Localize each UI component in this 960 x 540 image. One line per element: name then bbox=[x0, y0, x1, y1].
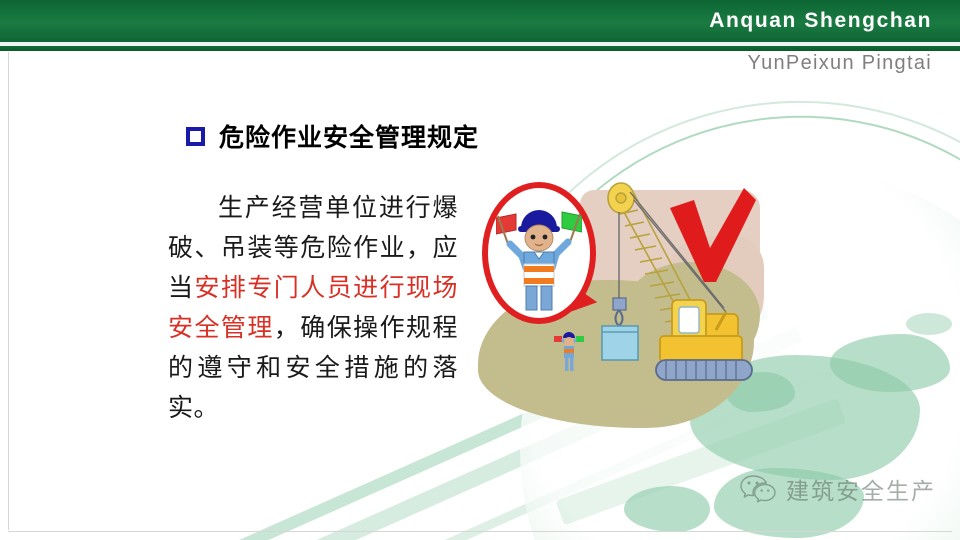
signalman-callout-bubble bbox=[482, 182, 596, 324]
bottom-border-rule bbox=[8, 531, 952, 532]
header-title: Anquan Shengchan bbox=[709, 9, 932, 33]
wechat-logo-icon bbox=[740, 474, 776, 504]
header-divider-dark bbox=[0, 46, 960, 51]
signalman-figure-large bbox=[496, 196, 582, 312]
crawler-crane-illustration bbox=[594, 180, 762, 390]
wechat-account-name: 建筑安全生产 bbox=[786, 472, 936, 506]
slide-canvas: Anquan Shengchan YunPeixun Pingtai 危险作业安… bbox=[0, 0, 960, 540]
hollow-square-bullet-icon bbox=[186, 127, 205, 146]
wechat-watermark: 建筑安全生产 bbox=[740, 472, 936, 506]
slide-heading: 危险作业安全管理规定 bbox=[186, 118, 479, 154]
illustration-crane-signalman bbox=[470, 176, 770, 444]
globe-landmass bbox=[906, 313, 952, 335]
globe-landmass bbox=[830, 334, 950, 392]
globe-landmass bbox=[624, 486, 710, 532]
left-border-rule bbox=[8, 52, 9, 530]
signalman-figure-small bbox=[552, 326, 586, 374]
body-paragraph: 生产经营单位进行爆破、吊装等危险作业，应当安排专门人员进行现场安全管理，确保操作… bbox=[168, 188, 458, 428]
page-title: 危险作业安全管理规定 bbox=[219, 118, 479, 154]
header-subtitle: YunPeixun Pingtai bbox=[748, 52, 932, 75]
